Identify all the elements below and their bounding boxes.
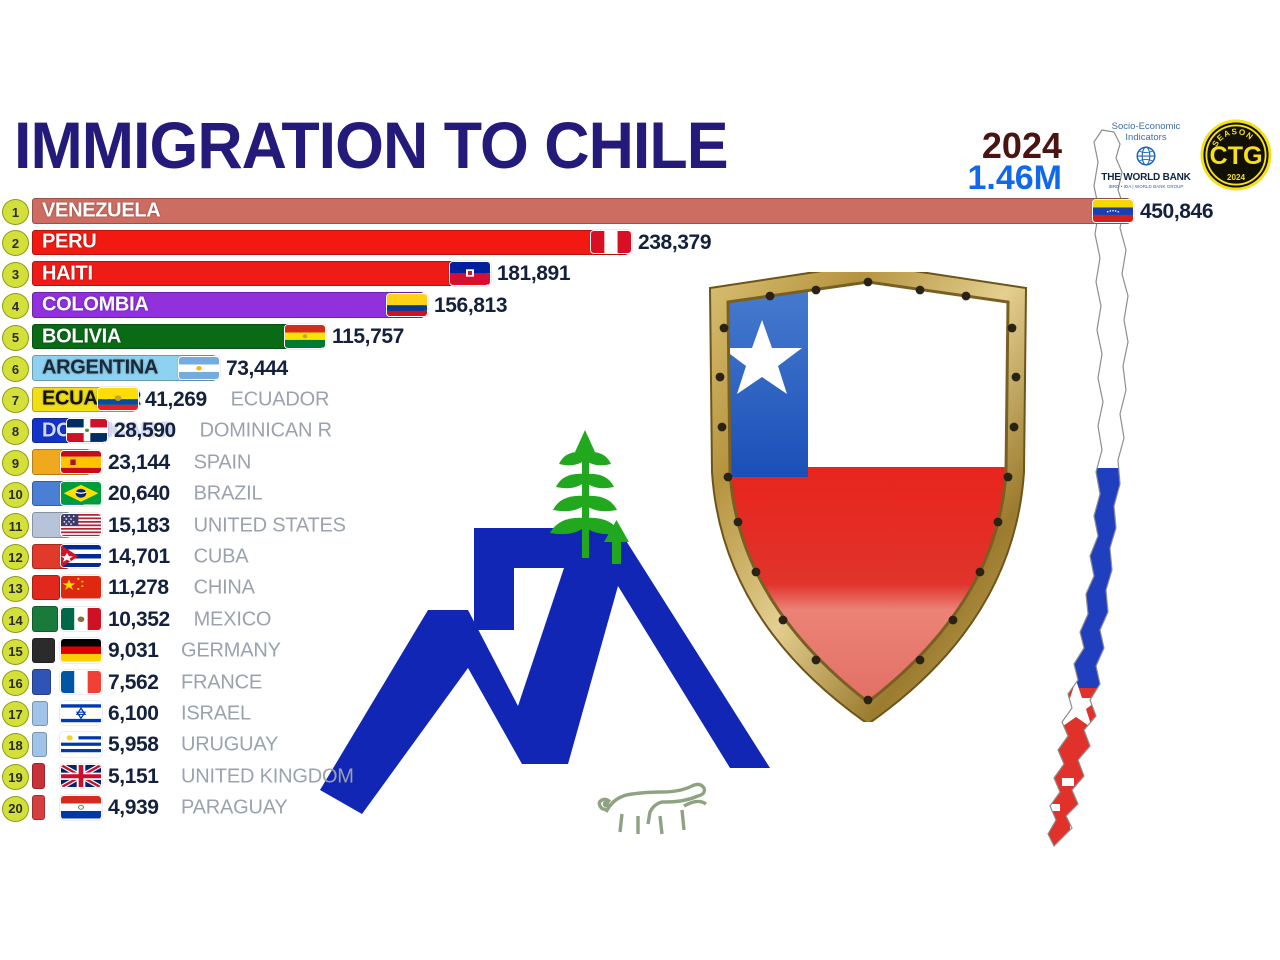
bar-value: 73,444 — [226, 357, 288, 381]
bar-row: 167,562FRANCE — [0, 667, 1280, 698]
bar-value: 238,379 — [638, 231, 711, 255]
rank-badge: 13 — [2, 576, 29, 602]
bar-row: 159,031GERMANY — [0, 636, 1280, 667]
bar-value: 450,846 — [1140, 200, 1213, 224]
bar-value: 11,278 — [108, 576, 169, 600]
bar-country-label: BOLIVIA — [42, 325, 121, 348]
country-flag-haiti — [449, 261, 491, 286]
bar-row: 1VENEZUELA450,846 — [0, 196, 1280, 227]
bar — [32, 575, 60, 601]
ctg-season-badge: SEASON CTG 2024 — [1199, 118, 1273, 192]
outside-country-label: CHINA — [194, 577, 255, 600]
country-flag-cuba — [60, 544, 102, 569]
bar — [32, 606, 58, 632]
country-flag-dominican — [66, 418, 108, 443]
rank-badge: 1 — [2, 199, 29, 225]
outside-country-label: URUGUAY — [181, 734, 278, 757]
outside-country-label: UNITED KINGDOM — [181, 765, 354, 788]
bar-value: 20,640 — [108, 482, 170, 506]
rank-badge: 10 — [2, 482, 29, 508]
bar-row: 3HAITI181,891 — [0, 259, 1280, 290]
bar-country-label: PERU — [42, 231, 96, 254]
rank-badge: 11 — [2, 513, 29, 539]
rank-badge: 8 — [2, 419, 29, 445]
bar-value: 14,701 — [108, 545, 170, 569]
bar-row: 1214,701CUBA — [0, 541, 1280, 572]
wb-tagline-line2: Indicators — [1098, 133, 1194, 144]
country-flag-bolivia — [284, 324, 326, 349]
bar-row: 195,151UNITED KINGDOM — [0, 761, 1280, 792]
bar-country-label: COLOMBIA — [42, 294, 148, 317]
bar — [32, 638, 55, 664]
bar-value: 28,590 — [114, 419, 176, 443]
bar-value: 41,269 — [145, 388, 207, 412]
bar — [32, 701, 48, 727]
bar-row: 7ECUADOR41,269ECUADOR — [0, 384, 1280, 415]
bar-chart-race-canvas: IMMIGRATION TO CHILE 2024 1.46M Soc — [0, 0, 1280, 960]
bar-row: 1020,640BRAZIL — [0, 479, 1280, 510]
outside-country-label: MEXICO — [194, 608, 272, 631]
outside-country-label: UNITED STATES — [194, 514, 346, 537]
outside-country-label: CUBA — [194, 546, 249, 569]
country-flag-peru — [590, 230, 632, 255]
bar-row: 8DOMINICAN R28,590DOMINICAN R — [0, 416, 1280, 447]
bar-value: 23,144 — [108, 451, 170, 475]
wb-name: THE WORLD BANK — [1098, 172, 1194, 183]
country-flag-mexico — [60, 607, 102, 632]
outside-country-label: ECUADOR — [231, 389, 330, 412]
rank-badge: 7 — [2, 387, 29, 413]
rank-badge: 16 — [2, 670, 29, 696]
bar-row: 1410,352MEXICO — [0, 604, 1280, 635]
country-flag-ecuador — [97, 387, 139, 412]
country-flag-colombia — [386, 293, 428, 318]
bar: COLOMBIA — [32, 292, 424, 318]
country-flag-spain — [60, 450, 102, 475]
country-flag-france — [60, 670, 102, 695]
rank-badge: 18 — [2, 733, 29, 759]
bar-value: 4,939 — [108, 796, 159, 820]
bar-value: 5,958 — [108, 733, 159, 757]
bar-value: 15,183 — [108, 514, 170, 538]
bar-value: 5,151 — [108, 765, 159, 789]
bar-value: 156,813 — [434, 294, 507, 318]
bar-country-label: HAITI — [42, 262, 93, 285]
outside-country-label: GERMANY — [181, 640, 281, 663]
rank-badge: 12 — [2, 544, 29, 570]
rank-badge: 2 — [2, 230, 29, 256]
bar-row: 185,958URUGUAY — [0, 730, 1280, 761]
bar-row: 5BOLIVIA115,757 — [0, 322, 1280, 353]
bar: HAITI — [32, 261, 487, 287]
bar-row: 6ARGENTINA73,444 — [0, 353, 1280, 384]
bar-value: 115,757 — [332, 325, 404, 349]
wb-subtitle: IBRD • IDA | WORLD BANK GROUP — [1098, 184, 1194, 189]
rank-badge: 4 — [2, 293, 29, 319]
outside-country-label: ISRAEL — [181, 703, 251, 726]
page-title: IMMIGRATION TO CHILE — [14, 112, 728, 178]
outside-country-label: FRANCE — [181, 671, 262, 694]
bar — [32, 763, 45, 789]
rank-badge: 5 — [2, 325, 29, 351]
bar-list: 1VENEZUELA450,8462PERU238,3793HAITI181,8… — [0, 196, 1280, 856]
bar-row: 4COLOMBIA156,813 — [0, 290, 1280, 321]
country-flag-uk — [60, 764, 102, 789]
bar-value: 9,031 — [108, 639, 159, 663]
country-flag-paraguay — [60, 795, 102, 820]
bar: BOLIVIA — [32, 324, 322, 350]
outside-country-label: DOMINICAN R — [200, 420, 332, 443]
rank-badge: 19 — [2, 764, 29, 790]
outside-country-label: BRAZIL — [194, 483, 263, 506]
country-flag-venezuela — [1092, 199, 1134, 224]
world-bank-logo: Socio-Economic Indicators THE WORLD BANK… — [1098, 122, 1194, 189]
rank-badge: 3 — [2, 262, 29, 288]
bar: PERU — [32, 230, 628, 256]
country-flag-germany — [60, 638, 102, 663]
bar-value: 181,891 — [497, 262, 570, 286]
country-flag-brazil — [60, 481, 102, 506]
country-flag-uruguay — [60, 732, 102, 757]
bar-value: 7,562 — [108, 671, 159, 695]
country-flag-argentina — [178, 356, 220, 381]
country-flag-china — [60, 575, 102, 600]
bar — [32, 732, 47, 758]
bar — [32, 795, 45, 821]
ctg-year-text: 2024 — [1227, 173, 1246, 182]
rank-badge: 14 — [2, 607, 29, 633]
rank-badge: 17 — [2, 701, 29, 727]
outside-country-label: SPAIN — [194, 451, 252, 474]
bar-row: 176,100ISRAEL — [0, 698, 1280, 729]
bar-row: 2PERU238,379 — [0, 227, 1280, 258]
rank-badge: 9 — [2, 450, 29, 476]
bar-row: 1311,278CHINA — [0, 573, 1280, 604]
bar-row: 923,144SPAIN — [0, 447, 1280, 478]
ctg-initials-text: CTG — [1209, 142, 1262, 170]
bar-country-label: ARGENTINA — [42, 356, 158, 379]
bar-value: 6,100 — [108, 702, 159, 726]
bar-country-label: VENEZUELA — [42, 199, 160, 222]
rank-badge: 20 — [2, 796, 29, 822]
country-flag-israel — [60, 701, 102, 726]
outside-country-label: PARAGUAY — [181, 797, 288, 820]
globe-icon — [1136, 146, 1156, 166]
bar-row: 1115,183UNITED STATES — [0, 510, 1280, 541]
country-flag-usa — [60, 513, 102, 538]
bar — [32, 669, 51, 695]
rank-badge: 15 — [2, 639, 29, 665]
rank-badge: 6 — [2, 356, 29, 382]
bar: VENEZUELA — [32, 198, 1130, 224]
bar-value: 10,352 — [108, 608, 170, 632]
bar-row: 204,939PARAGUAY — [0, 793, 1280, 824]
